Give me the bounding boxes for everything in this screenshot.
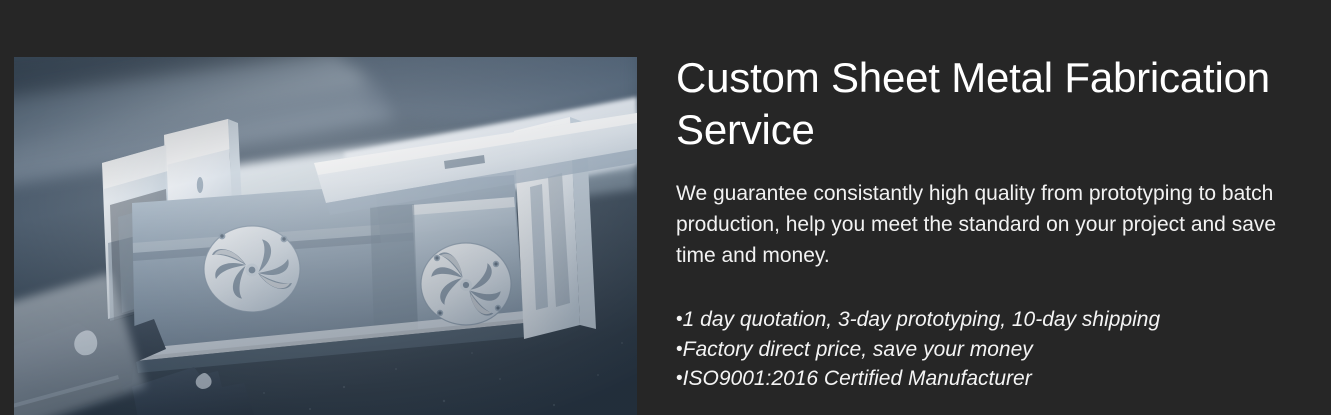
sheet-metal-photo-illustration bbox=[14, 57, 637, 415]
bullet-marker-icon: • bbox=[676, 309, 683, 330]
bullet-marker-icon: • bbox=[676, 368, 683, 389]
list-item: •Factory direct price, save your money bbox=[676, 335, 1306, 365]
list-item: •1 day quotation, 3-day prototyping, 10-… bbox=[676, 305, 1306, 335]
list-item: •ISO9001:2016 Certified Manufacturer bbox=[676, 364, 1306, 394]
list-item-label: 1 day quotation, 3-day prototyping, 10-d… bbox=[683, 308, 1161, 331]
page-title: Custom Sheet Metal Fabrication Service bbox=[676, 52, 1306, 156]
hero-text-column: Custom Sheet Metal Fabrication Service W… bbox=[676, 52, 1306, 394]
list-item-label: Factory direct price, save your money bbox=[683, 338, 1033, 361]
hero-feature-list: •1 day quotation, 3-day prototyping, 10-… bbox=[676, 271, 1306, 394]
hero-photo bbox=[14, 57, 637, 415]
bullet-marker-icon: • bbox=[676, 339, 683, 360]
hero-banner: Custom Sheet Metal Fabrication Service W… bbox=[0, 0, 1331, 415]
hero-description: We guarantee consistantly high quality f… bbox=[676, 156, 1290, 271]
list-item-label: ISO9001:2016 Certified Manufacturer bbox=[683, 367, 1032, 390]
